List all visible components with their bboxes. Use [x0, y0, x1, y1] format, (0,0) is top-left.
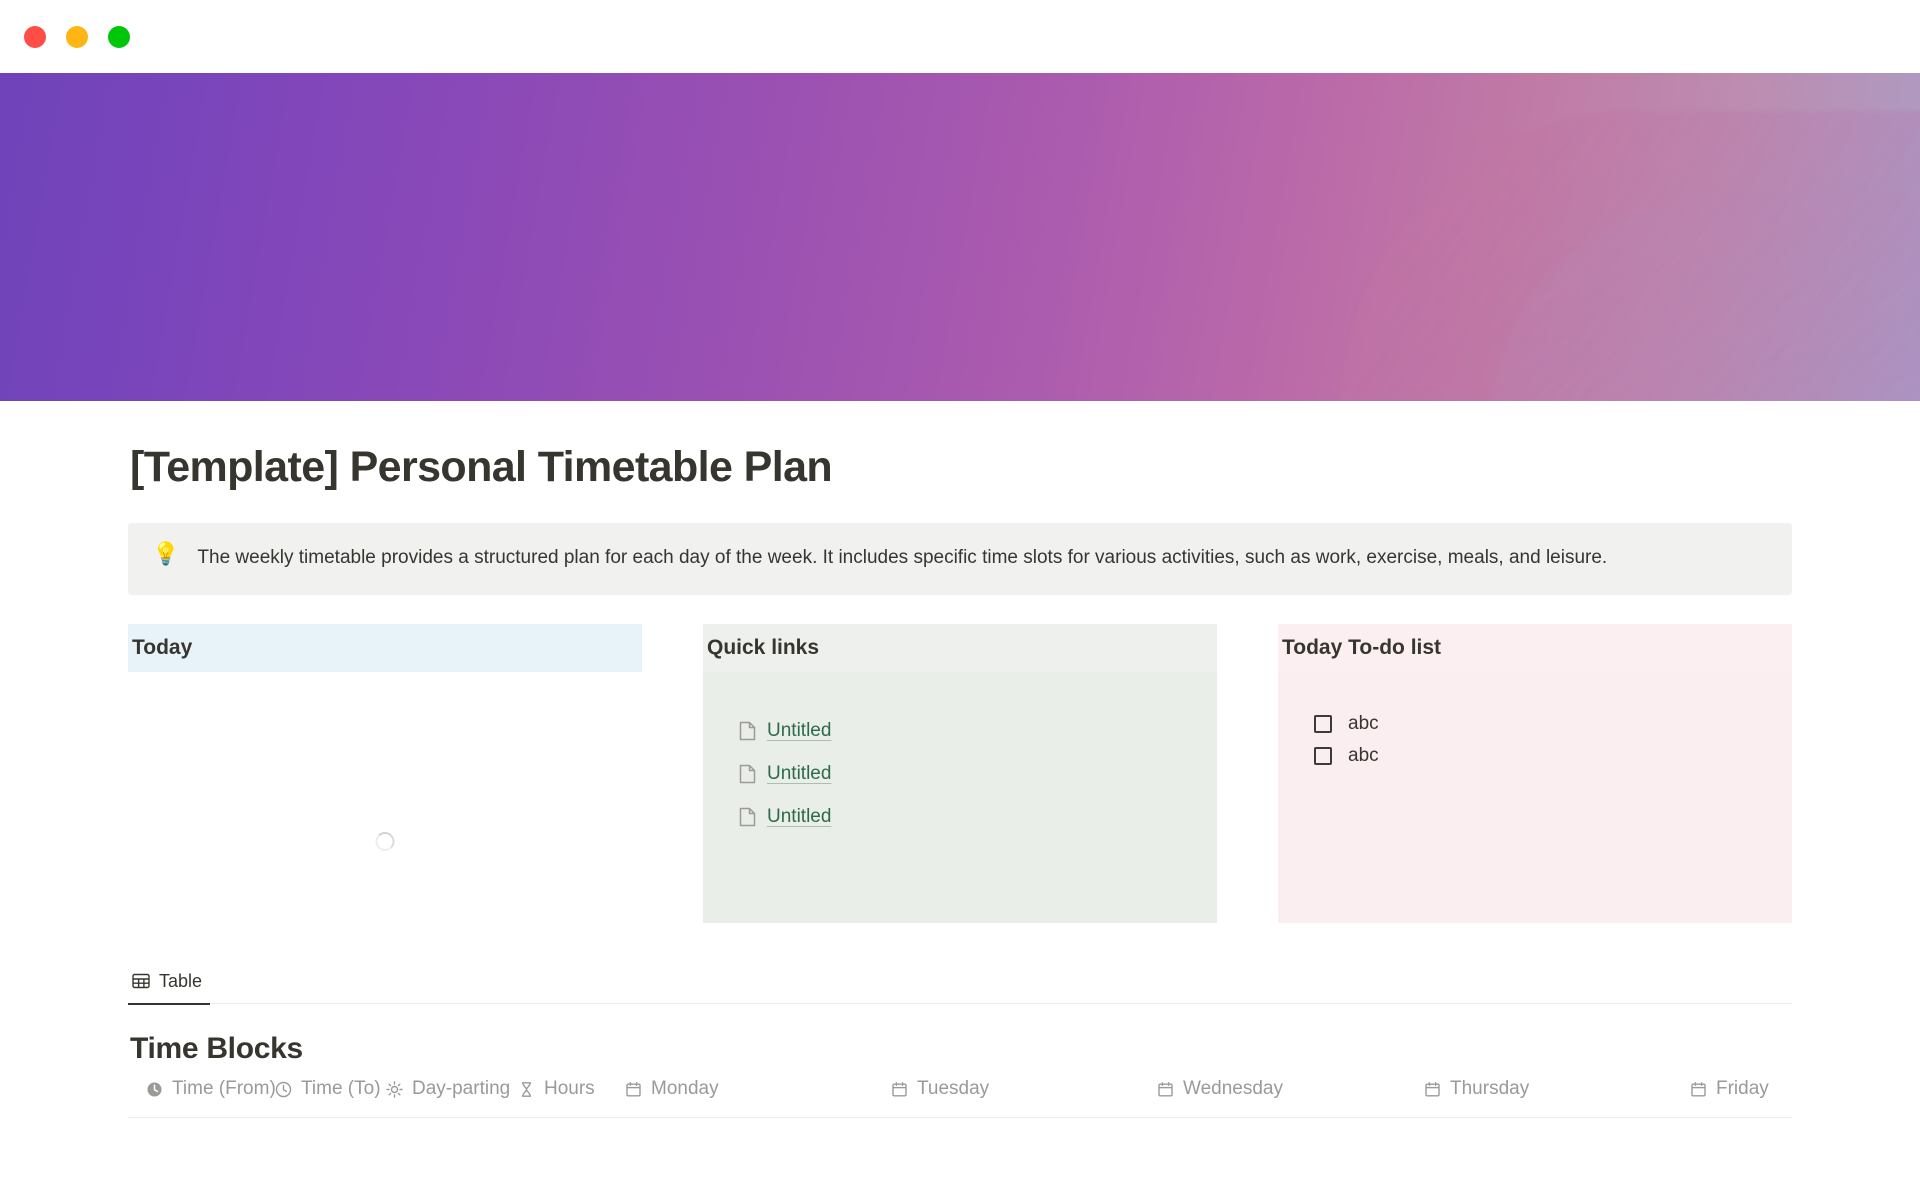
column-header-tuesday[interactable]: Tuesday: [891, 1078, 989, 1100]
column-header-thursday[interactable]: Thursday: [1424, 1078, 1529, 1100]
database-column-headers: Time (From) Time (To) Day-parting: [128, 1078, 1792, 1118]
column-header-day-parting[interactable]: Day-parting: [386, 1078, 510, 1100]
dashboard-cards: Today Quick links Untitled: [128, 624, 1792, 923]
todo-label: abc: [1348, 713, 1379, 735]
list-item[interactable]: Untitled: [703, 753, 1217, 796]
todo-checkbox[interactable]: [1314, 747, 1332, 765]
table-icon: [132, 972, 150, 990]
column-label: Hours: [544, 1078, 595, 1100]
column-label: Time (To): [301, 1078, 381, 1100]
column-label: Monday: [651, 1078, 719, 1100]
minimize-window-button[interactable]: [66, 26, 88, 48]
close-window-button[interactable]: [24, 26, 46, 48]
maximize-window-button[interactable]: [108, 26, 130, 48]
quick-links-card-body: Untitled Untitled: [703, 672, 1217, 923]
document-icon: [739, 764, 756, 784]
calendar-icon: [1690, 1081, 1707, 1098]
column-label: Tuesday: [917, 1078, 989, 1100]
list-item[interactable]: Untitled: [703, 710, 1217, 753]
database-view-tabs: Table: [128, 965, 1792, 1005]
column-header-hours[interactable]: Hours: [518, 1078, 595, 1100]
clock-outline-icon: [275, 1081, 292, 1098]
calendar-icon: [1157, 1081, 1174, 1098]
tab-table[interactable]: Table: [128, 965, 210, 1005]
todo-card: Today To-do list abc abc: [1278, 624, 1792, 923]
lightbulb-icon: 💡: [152, 543, 179, 565]
calendar-icon: [1424, 1081, 1441, 1098]
today-card-title: Today: [128, 624, 642, 672]
list-item[interactable]: abc: [1278, 740, 1792, 772]
callout-text: The weekly timetable provides a structur…: [197, 544, 1607, 573]
sun-icon: [386, 1081, 403, 1098]
today-card-body: [128, 672, 642, 910]
column-label: Wednesday: [1183, 1078, 1283, 1100]
document-icon: [739, 721, 756, 741]
column-label: Friday: [1716, 1078, 1769, 1100]
todo-checkbox[interactable]: [1314, 715, 1332, 733]
list-item[interactable]: abc: [1278, 708, 1792, 740]
document-icon: [739, 807, 756, 827]
page-title: [Template] Personal Timetable Plan: [130, 443, 1792, 492]
window-titlebar: [0, 0, 1920, 73]
quick-link-label[interactable]: Untitled: [767, 806, 831, 828]
quick-links-card: Quick links Untitled: [703, 624, 1217, 923]
column-label: Time (From): [172, 1078, 276, 1100]
calendar-icon: [625, 1081, 642, 1098]
column-header-friday[interactable]: Friday: [1690, 1078, 1769, 1100]
loading-spinner-icon: [376, 832, 395, 851]
quick-link-label[interactable]: Untitled: [767, 720, 831, 742]
tab-label: Table: [159, 971, 202, 992]
column-label: Day-parting: [412, 1078, 510, 1100]
todo-label: abc: [1348, 745, 1379, 767]
column-header-time-from[interactable]: Time (From): [146, 1078, 276, 1100]
column-header-monday[interactable]: Monday: [625, 1078, 719, 1100]
todo-card-body: abc abc: [1278, 672, 1792, 923]
clock-filled-icon: [146, 1081, 163, 1098]
window-controls: [24, 26, 130, 48]
column-label: Thursday: [1450, 1078, 1529, 1100]
todo-card-title: Today To-do list: [1278, 624, 1792, 672]
list-item[interactable]: Untitled: [703, 796, 1217, 839]
quick-link-label[interactable]: Untitled: [767, 763, 831, 785]
database-title: Time Blocks: [130, 1032, 1792, 1066]
column-header-time-to[interactable]: Time (To): [275, 1078, 381, 1100]
calendar-icon: [891, 1081, 908, 1098]
database-rows: [128, 1118, 1792, 1158]
page-cover-banner: [0, 73, 1920, 401]
today-card: Today: [128, 624, 642, 923]
info-callout: 💡 The weekly timetable provides a struct…: [128, 523, 1792, 595]
column-header-wednesday[interactable]: Wednesday: [1157, 1078, 1283, 1100]
quick-links-card-title: Quick links: [703, 624, 1217, 672]
hourglass-icon: [518, 1081, 535, 1098]
